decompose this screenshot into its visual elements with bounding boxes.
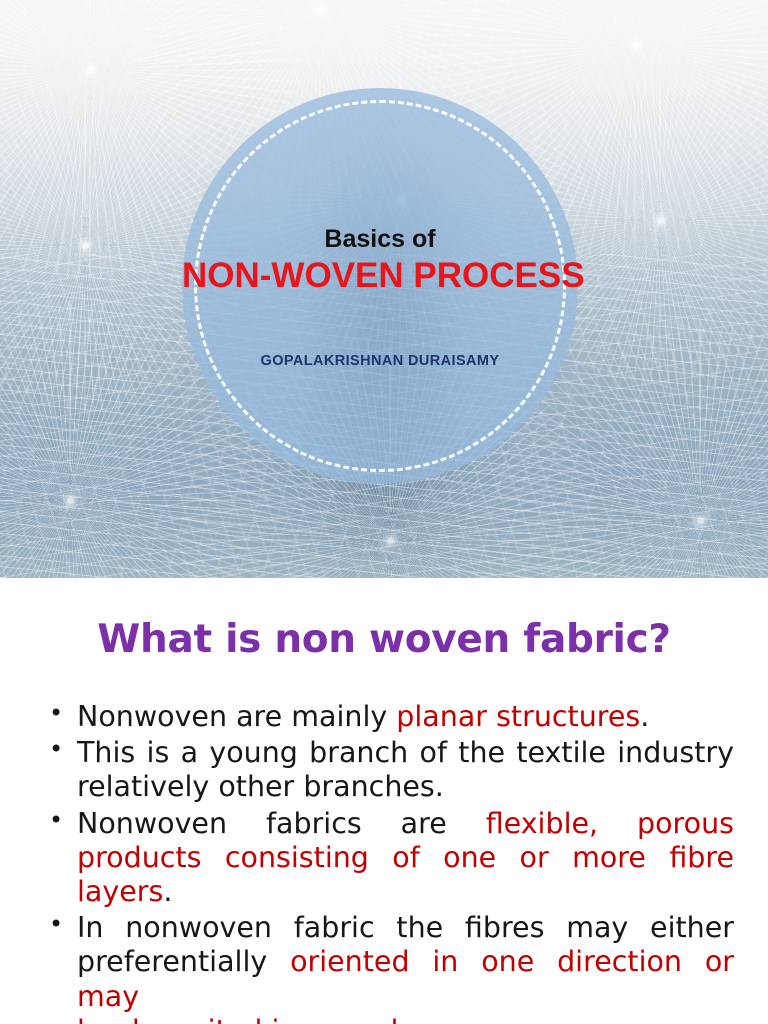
slide-main-title: NON-WOVEN PROCESS: [182, 256, 578, 296]
bullet-item: In nonwoven fabric the fibres may either…: [34, 911, 734, 1024]
bullet-line: be deposited in a random manner.: [77, 1014, 734, 1024]
bullet-line: products consisting of one or more fibre: [77, 841, 734, 875]
body-text: Nonwoven are mainly: [77, 700, 396, 733]
emphasis-text: flexible, porous: [486, 807, 734, 840]
body-text: .: [163, 875, 172, 908]
bullet-item: Nonwoven are mainly planar structures.: [34, 700, 734, 734]
body-text: Nonwoven fabrics are: [77, 807, 486, 840]
bullet-line: relatively other branches.: [77, 770, 734, 804]
bullet-line: Nonwoven fabrics are flexible, porous: [77, 807, 734, 841]
bullet-item: This is a young branch of the textile in…: [34, 736, 734, 804]
bullet-line: preferentially oriented in one direction…: [77, 945, 734, 1013]
emphasis-text: be deposited in a random manner: [77, 1014, 561, 1024]
emphasis-text: products consisting of one or more fibre: [77, 841, 734, 874]
content-slide-heading: What is non woven fabric?: [0, 617, 768, 662]
bullet-list: Nonwoven are mainly planar structures.Th…: [34, 700, 734, 1024]
slide-author-name: GOPALAKRISHNAN DURAISAMY: [182, 353, 578, 369]
content-slide: What is non woven fabric? Nonwoven are m…: [0, 578, 768, 1024]
body-text: preferentially: [77, 945, 290, 978]
presentation-page: Basics of NON-WOVEN PROCESS GOPALAKRISHN…: [0, 0, 768, 1024]
emphasis-text: planar structures: [396, 700, 640, 733]
bullet-line: In nonwoven fabric the fibres may either: [77, 911, 734, 945]
body-text: This is a young branch of the textile in…: [77, 736, 734, 769]
bullet-line: This is a young branch of the textile in…: [77, 736, 734, 770]
bullet-line: Nonwoven are mainly planar structures.: [77, 700, 734, 734]
title-circle-shape: Basics of NON-WOVEN PROCESS GOPALAKRISHN…: [182, 88, 578, 484]
body-text: .: [561, 1014, 570, 1024]
emphasis-text: layers: [77, 875, 163, 908]
body-text: .: [640, 700, 649, 733]
body-text: relatively other branches.: [77, 770, 444, 803]
title-slide-hero-image: Basics of NON-WOVEN PROCESS GOPALAKRISHN…: [0, 0, 768, 578]
bullet-line: layers.: [77, 875, 734, 909]
bullet-item: Nonwoven fabrics are flexible, porouspro…: [34, 807, 734, 910]
body-text: In nonwoven fabric the fibres may either: [77, 911, 734, 944]
slide-kicker-text: Basics of: [182, 225, 578, 254]
